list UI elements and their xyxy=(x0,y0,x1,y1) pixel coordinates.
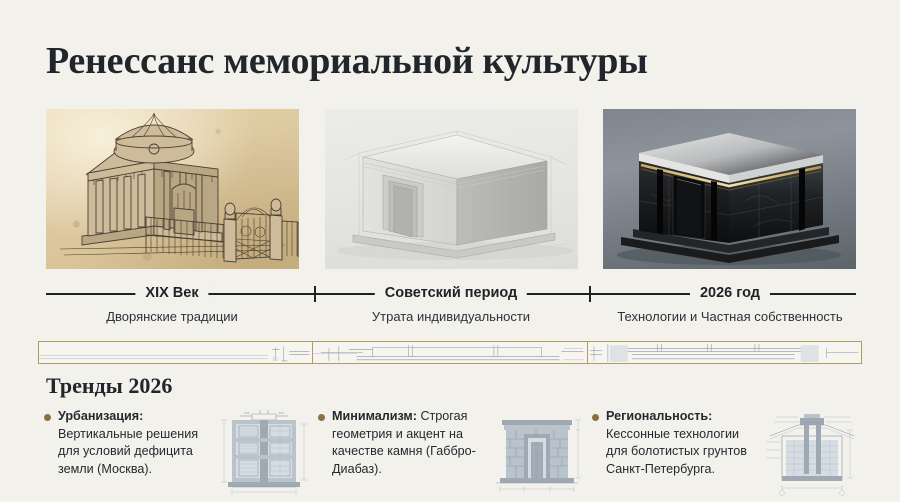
black-granite-mausoleum-render xyxy=(603,109,856,269)
timeline-subtitle-year-2026: Технологии и Частная собственность xyxy=(617,309,842,324)
timeline-subtitle-soviet-period: Утрата индивидуальности xyxy=(372,309,530,324)
timeline-label-soviet-period: Советский период xyxy=(375,283,527,304)
trend-text-urbanization: Урбанизация: Вертикальные решения для ус… xyxy=(58,408,214,478)
grey-studio-background xyxy=(325,109,578,269)
bullet-dot-icon xyxy=(592,414,599,421)
trends-row: Урбанизация: Вертикальные решения для ус… xyxy=(44,408,860,498)
trend-body-regionality: Кессонные технологии для болотистых грун… xyxy=(606,427,747,476)
sepia-paper-background xyxy=(46,109,299,269)
caisson-foundation-section-drawing xyxy=(764,408,860,496)
stone-mausoleum-elevation-drawing xyxy=(490,408,586,496)
era-image-soviet-period xyxy=(325,109,578,269)
page-title: Ренессанс мемориальной культуры xyxy=(46,39,648,83)
blueprint-fragment-right-drawing xyxy=(588,342,861,363)
blueprint-panel-center xyxy=(313,342,587,363)
bullet-dot-icon xyxy=(318,414,325,421)
blueprint-fragment-center-drawing xyxy=(313,342,586,363)
neoclassical-mausoleum-drawing xyxy=(46,109,299,269)
trend-item-regionality: Региональность: Кессонные технологии для… xyxy=(592,408,860,498)
era-image-row xyxy=(46,109,856,269)
timeline-subtitle-19th-century: Дворянские традиции xyxy=(106,309,238,324)
timeline-tick-1 xyxy=(314,286,316,302)
trend-term-urbanization: Урбанизация: xyxy=(58,409,143,423)
era-timeline: XIX Век Дворянские традиции Советский пе… xyxy=(46,283,856,329)
trend-text-regionality: Региональность: Кессонные технологии для… xyxy=(606,408,762,478)
trend-body-urbanization: Вертикальные решения для условий дефицит… xyxy=(58,427,198,476)
timeline-tick-2 xyxy=(589,286,591,302)
infographic-page: Ренессанс мемориальной культуры xyxy=(0,0,900,502)
trend-term-minimalism: Минимализм: xyxy=(332,409,417,423)
blueprint-panel-left xyxy=(39,342,313,363)
trend-text-minimalism: Минимализм: Строгая геометрия и акцент н… xyxy=(332,408,488,478)
trend-item-urbanization: Урбанизация: Вертикальные решения для ус… xyxy=(44,408,312,498)
bullet-dot-icon xyxy=(44,414,51,421)
columbarium-section-drawing xyxy=(216,408,312,496)
timeline-label-19th-century: XIX Век xyxy=(135,283,208,304)
concrete-box-mausoleum-drawing xyxy=(325,109,578,269)
blueprint-panel-right xyxy=(588,342,861,363)
studio-gradient-background xyxy=(603,109,856,269)
trend-term-regionality: Региональность: xyxy=(606,409,712,423)
trend-item-minimalism: Минимализм: Строгая геометрия и акцент н… xyxy=(318,408,586,498)
blueprint-divider-strip xyxy=(38,341,862,364)
blueprint-fragment-left-drawing xyxy=(39,342,312,363)
era-image-year-2026 xyxy=(603,109,856,269)
era-image-19th-century xyxy=(46,109,299,269)
timeline-label-year-2026: 2026 год xyxy=(690,283,770,304)
trends-heading: Тренды 2026 xyxy=(46,373,172,399)
